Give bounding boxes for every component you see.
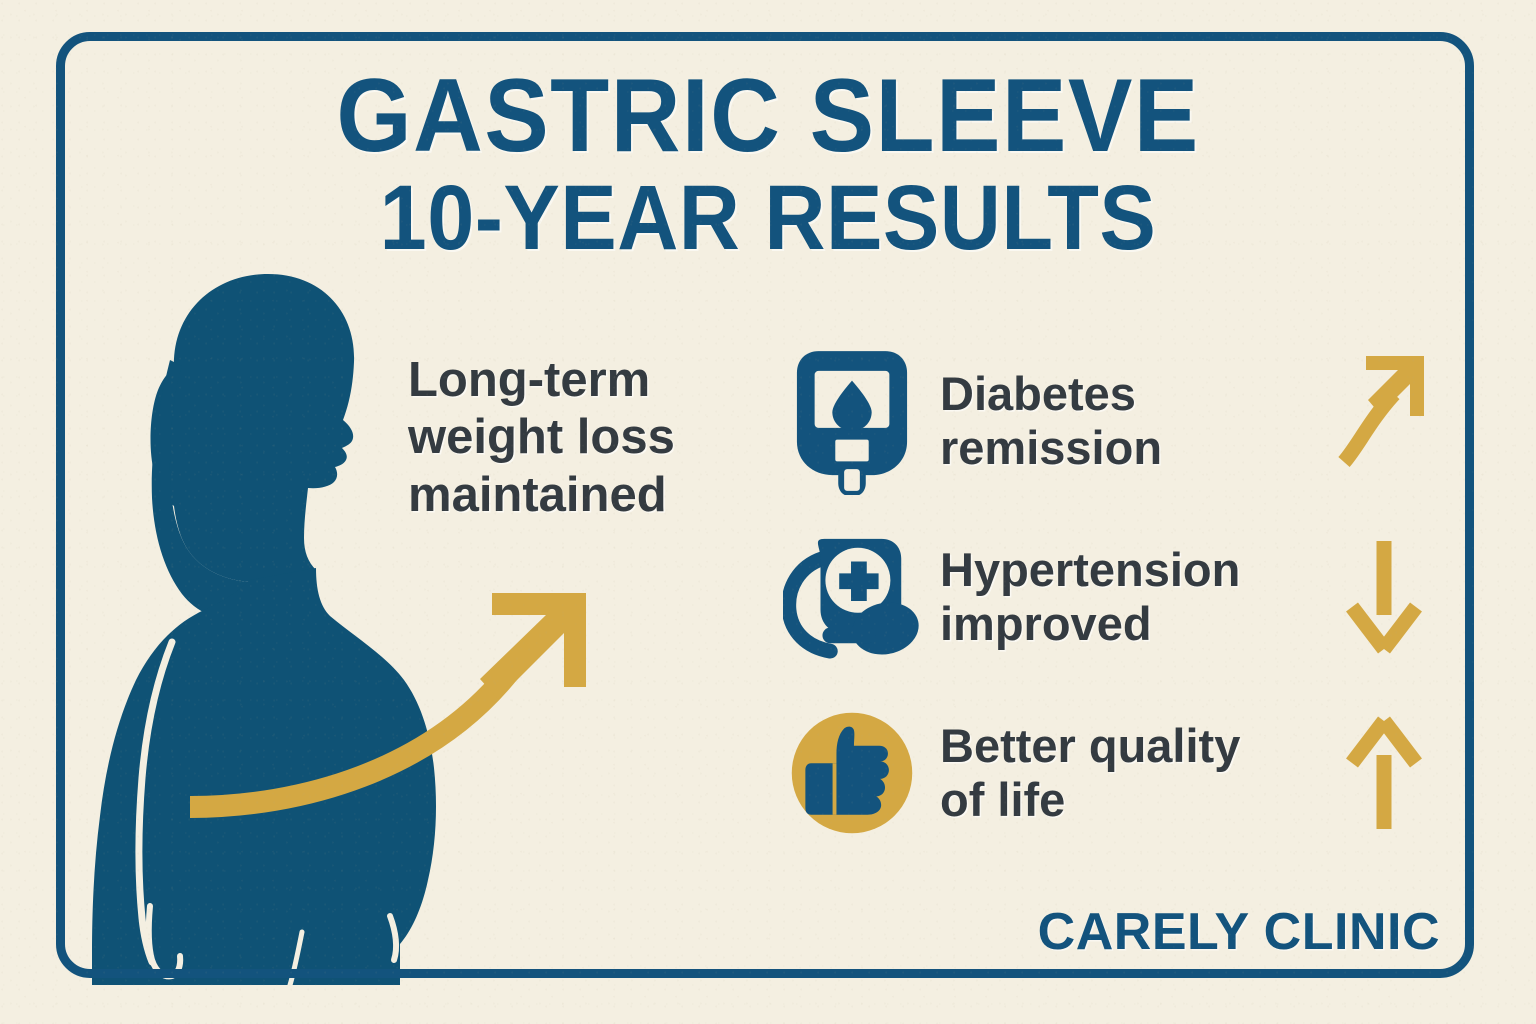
- blood-pressure-monitor-icon: [778, 523, 926, 671]
- benefit-item-quality-of-life: Better quality of life: [778, 685, 1418, 861]
- up-arrow-icon: [1336, 713, 1432, 833]
- thumbs-up-icon: [778, 699, 926, 847]
- curved-up-arrow-icon: [180, 575, 640, 835]
- down-arrow-icon: [1336, 537, 1432, 657]
- poster-title-block: GASTRIC SLEEVE 10-YEAR RESULTS: [0, 62, 1536, 266]
- benefit-item-diabetes: Diabetes remission: [778, 333, 1418, 509]
- benefits-list: Diabetes remission: [778, 333, 1418, 861]
- benefit-quality-line-1: Better quality: [940, 719, 1322, 773]
- weight-loss-caption: Long-term weight loss maintained: [408, 352, 738, 524]
- benefit-item-hypertension: Hypertension improved: [778, 509, 1418, 685]
- infographic-poster: GASTRIC SLEEVE 10-YEAR RESULTS: [0, 0, 1536, 1024]
- glucose-meter-icon: [778, 347, 926, 495]
- weight-loss-caption-line-1: Long-term: [408, 352, 738, 409]
- weight-loss-caption-line-3: maintained: [408, 467, 738, 524]
- poster-title-line-1: GASTRIC SLEEVE: [54, 62, 1482, 170]
- poster-title-line-2: 10-YEAR RESULTS: [61, 172, 1474, 266]
- curved-up-arrow-icon: [1336, 350, 1432, 470]
- benefit-quality-line-2: of life: [940, 773, 1322, 827]
- clinic-brand-name: CARELY CLINIC: [1038, 902, 1440, 962]
- weight-loss-caption-line-2: weight loss: [408, 409, 738, 466]
